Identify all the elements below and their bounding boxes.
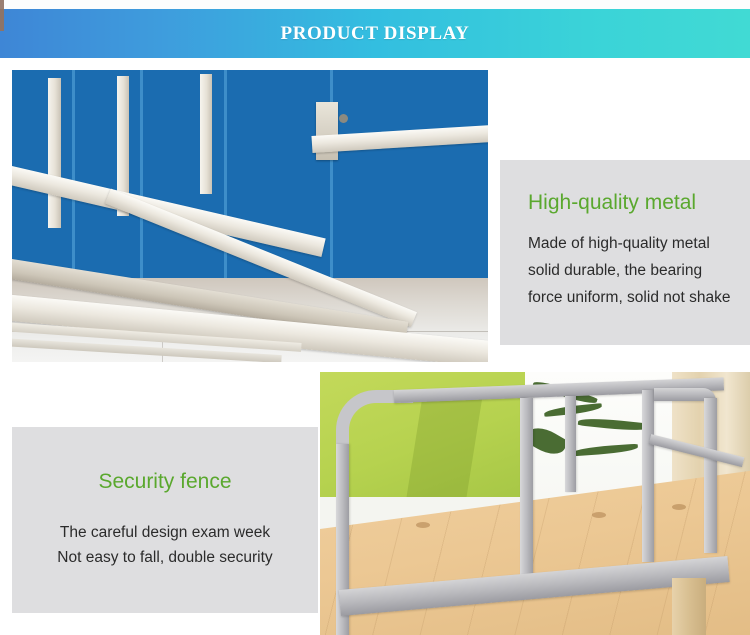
panel-title-security-fence: Security fence (12, 469, 318, 494)
panel-body-line: force uniform, solid not shake (528, 285, 750, 312)
panel-body-line: The careful design exam week (12, 520, 318, 545)
panel-body-security-fence: The careful design exam week Not easy to… (12, 520, 318, 570)
frame-post (48, 78, 61, 228)
panel-body-high-quality-metal: Made of high-quality metal solid durable… (528, 231, 750, 311)
panel-body-line: solid durable, the bearing (528, 258, 750, 285)
panel-high-quality-metal: High-quality metal Made of high-quality … (500, 160, 750, 345)
panel-body-line: Not easy to fall, double security (12, 545, 318, 570)
top-white-strip (0, 0, 750, 9)
frame-post (200, 74, 212, 194)
wood-knot (592, 512, 606, 518)
metal-bed-frame-photo (12, 70, 488, 362)
panel-title-high-quality-metal: High-quality metal (528, 190, 750, 215)
wall-seam-line (72, 70, 75, 280)
rail-vertical-post (642, 390, 654, 562)
bed-leg (672, 578, 706, 635)
panel-security-fence: Security fence The careful design exam w… (12, 427, 318, 613)
product-display-page: PRODUCT DISPLAY (0, 0, 750, 635)
rail-vertical-post (704, 398, 717, 553)
rail-vertical-post (520, 398, 533, 598)
safety-rail-photo (320, 372, 750, 635)
wood-knot (416, 522, 430, 528)
page-title: PRODUCT DISPLAY (0, 23, 750, 45)
wall-seam-line (140, 70, 143, 280)
bolt-head-icon (339, 114, 348, 123)
panel-body-line: Made of high-quality metal (528, 231, 750, 258)
product-display-header-banner: PRODUCT DISPLAY (0, 9, 750, 58)
top-strip-edge-nib (0, 0, 4, 9)
wood-knot (672, 504, 686, 510)
rail-vertical-post (565, 396, 576, 492)
